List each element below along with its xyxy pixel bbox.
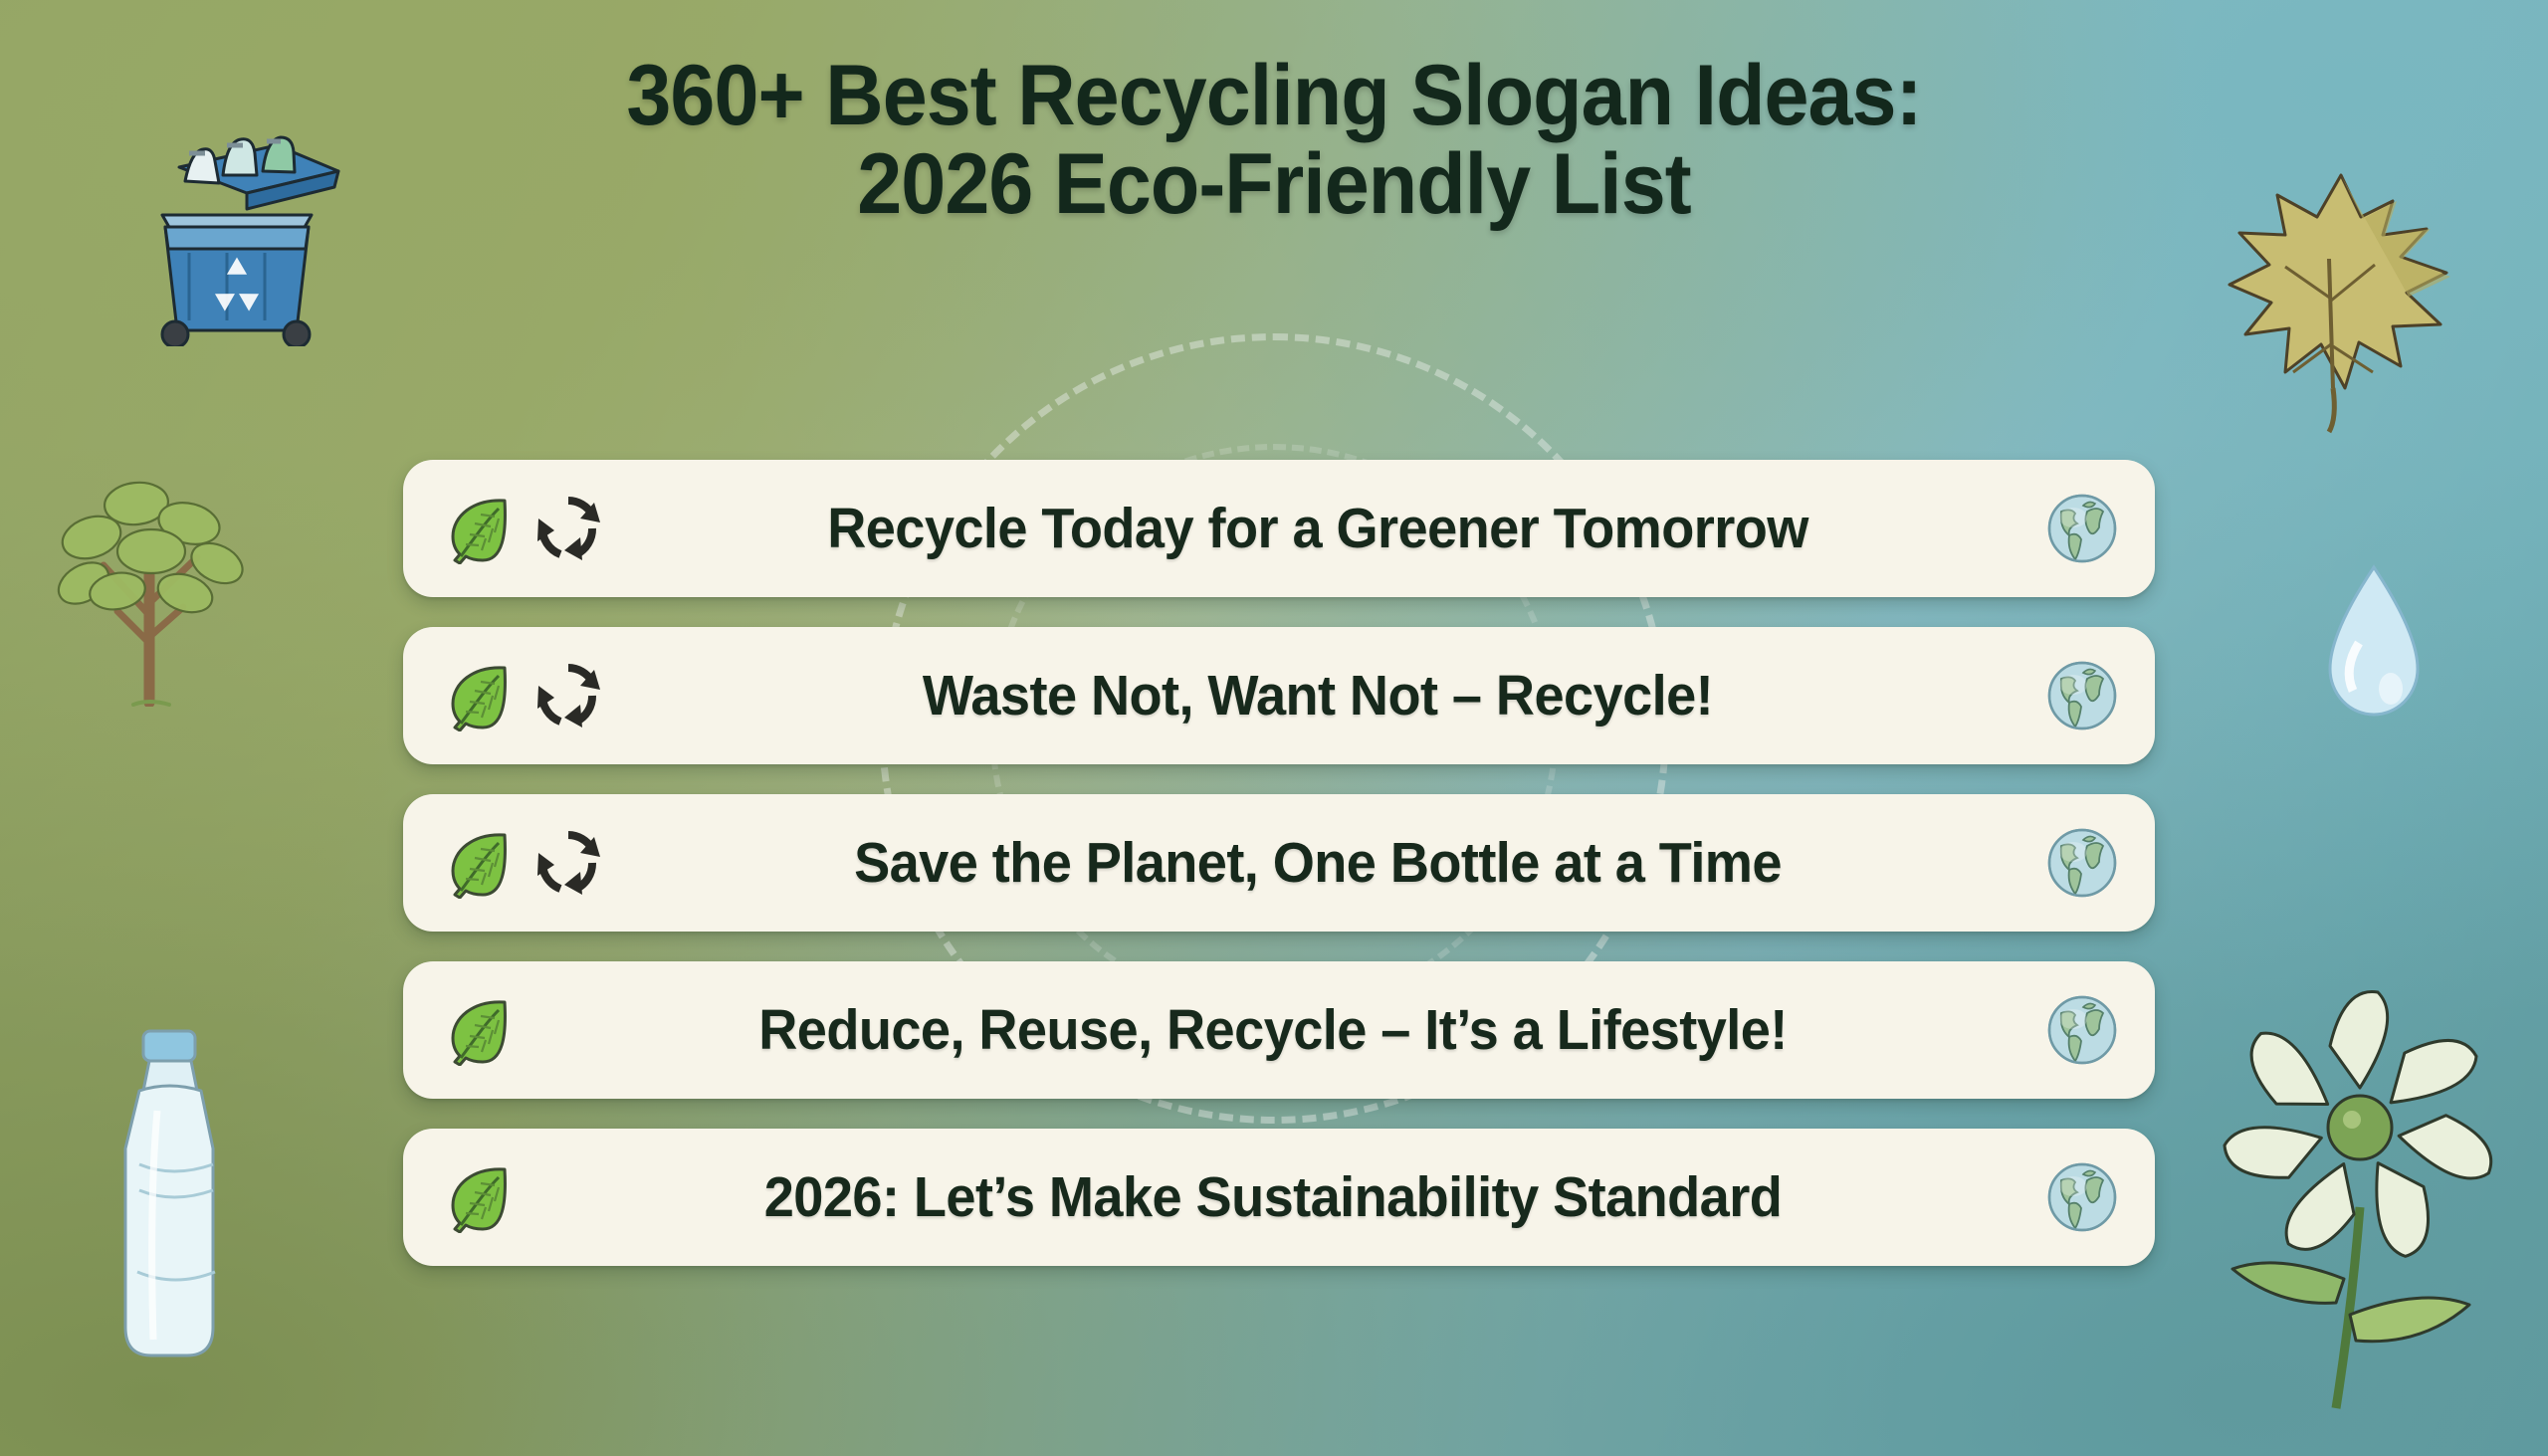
title-line-2: 2026 Eco-Friendly List	[77, 140, 2471, 229]
globe-icon	[2043, 1158, 2121, 1236]
leaf-icon	[443, 994, 515, 1066]
slogan-leading-icons	[443, 493, 604, 564]
slogan-card[interactable]: Save the Planet, One Bottle at a Time	[403, 794, 2155, 932]
flower-illustration	[2185, 980, 2533, 1428]
slogan-trailing-icon	[2031, 657, 2121, 734]
slogan-list: Recycle Today for a Greener Tomorrow Was…	[403, 460, 2155, 1266]
recycle-arrows-icon	[532, 493, 604, 564]
poster-canvas: 360+ Best Recycling Slogan Ideas: 2026 E…	[0, 0, 2548, 1456]
slogan-trailing-icon	[2031, 490, 2121, 567]
slogan-trailing-icon	[2031, 1158, 2121, 1236]
slogan-leading-icons	[443, 1161, 515, 1233]
slogan-leading-icons	[443, 827, 604, 899]
slogan-leading-icons	[443, 994, 515, 1066]
globe-icon	[2043, 657, 2121, 734]
leaf-icon	[443, 827, 515, 899]
leaf-icon	[443, 660, 515, 731]
slogan-text: Save the Planet, One Bottle at a Time	[640, 830, 1996, 896]
slogan-card[interactable]: 2026: Let’s Make Sustainability Standard	[403, 1129, 2155, 1266]
slogan-leading-icons	[443, 660, 604, 731]
slogan-text: Reduce, Reuse, Recycle – It’s a Lifestyl…	[552, 997, 1994, 1063]
slogan-card[interactable]: Waste Not, Want Not – Recycle!	[403, 627, 2155, 764]
tree-illustration	[22, 408, 281, 707]
globe-icon	[2043, 824, 2121, 902]
slogan-text: Recycle Today for a Greener Tomorrow	[640, 496, 1996, 561]
page-title: 360+ Best Recycling Slogan Ideas: 2026 E…	[0, 52, 2548, 228]
slogan-card[interactable]: Recycle Today for a Greener Tomorrow	[403, 460, 2155, 597]
water-drop-illustration	[2309, 557, 2439, 746]
recycle-arrows-icon	[532, 660, 604, 731]
globe-icon	[2043, 490, 2121, 567]
leaf-icon	[443, 1161, 515, 1233]
title-line-1: 360+ Best Recycling Slogan Ideas:	[77, 52, 2471, 140]
leaf-icon	[443, 493, 515, 564]
plastic-bottle-illustration	[78, 1015, 267, 1413]
slogan-trailing-icon	[2031, 991, 2121, 1069]
slogan-text: Waste Not, Want Not – Recycle!	[640, 663, 1996, 728]
slogan-card[interactable]: Reduce, Reuse, Recycle – It’s a Lifestyl…	[403, 961, 2155, 1099]
slogan-trailing-icon	[2031, 824, 2121, 902]
globe-icon	[2043, 991, 2121, 1069]
recycle-arrows-icon	[532, 827, 604, 899]
slogan-text: 2026: Let’s Make Sustainability Standard	[552, 1164, 1994, 1230]
